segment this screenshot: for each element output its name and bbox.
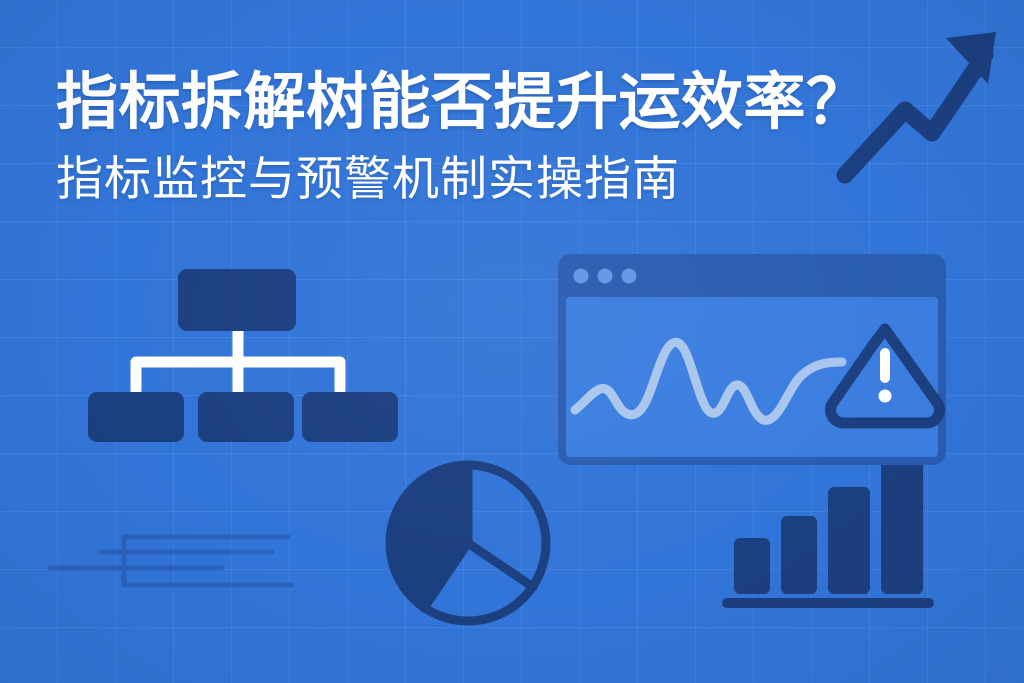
bar-4	[881, 448, 923, 594]
window-dot-3	[622, 269, 637, 284]
dashboard-browser-window-icon	[558, 254, 946, 465]
window-dot-1	[574, 269, 589, 284]
pie-chart-icon	[389, 465, 546, 621]
metric-breakdown-tree-icon	[88, 269, 398, 442]
bar-2	[781, 516, 817, 594]
bracket-list-lines-icon	[50, 537, 292, 585]
ascending-bar-chart-icon	[722, 448, 934, 608]
tree-node-root	[178, 269, 296, 331]
bar-3	[828, 487, 870, 594]
tree-node-child-3	[302, 392, 398, 442]
bar-chart-baseline	[722, 598, 934, 608]
tree-node-child-1	[88, 392, 184, 442]
window-dot-2	[598, 269, 613, 284]
bar-1	[734, 538, 770, 594]
illustration-layer	[0, 0, 1024, 683]
tree-node-child-2	[198, 392, 294, 442]
warning-exclamation-bar	[880, 348, 890, 383]
poster-canvas: 指标拆解树能否提升运效率？ 指标监控与预警机制实操指南	[0, 0, 1024, 683]
warning-exclamation-dot	[879, 390, 892, 403]
